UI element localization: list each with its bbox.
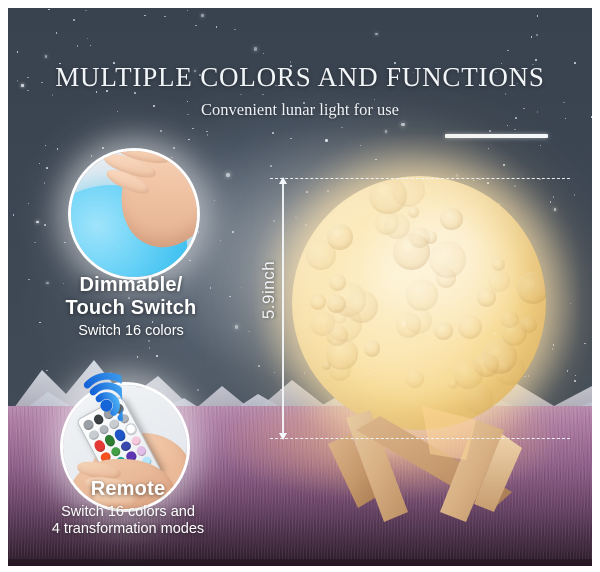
feature-subtitle-line1: Switch 16 colors and <box>8 504 248 521</box>
dimension-arrow-down-icon <box>279 433 287 440</box>
feature-subtitle-line2: 4 transformation modes <box>8 521 248 538</box>
dimension-guide-bottom <box>270 438 570 439</box>
feature-title-line2: Touch Switch <box>11 297 251 320</box>
banner-scene: MULTIPLE COLORS AND FUNCTIONS Convenient… <box>8 8 592 566</box>
feature-title-remote: Remote <box>8 478 248 501</box>
page-title: MULTIPLE COLORS AND FUNCTIONS <box>8 62 592 93</box>
feature-caption-dimmable-touch-switch: Dimmable/ Touch Switch Switch 16 colors <box>11 274 251 340</box>
dimension-arrow-up-icon <box>279 177 287 184</box>
wooden-stand <box>326 400 526 530</box>
dimension-label: 5.9inch <box>259 261 279 319</box>
product-banner: MULTIPLE COLORS AND FUNCTIONS Convenient… <box>0 0 600 572</box>
moon-lamp-sphere <box>292 176 546 430</box>
page-subtitle: Convenient lunar light for use <box>8 100 592 120</box>
moon-speckles <box>292 176 546 430</box>
feature-title-line1: Dimmable/ <box>11 274 251 297</box>
dimension-line <box>282 178 284 439</box>
feature-image-dimmable-touch-switch <box>68 148 200 280</box>
feature-subtitle: Switch 16 colors <box>11 323 251 340</box>
dimension-guide-top <box>270 178 570 179</box>
wifi-signal-icon <box>65 365 123 423</box>
feature-caption-remote: Remote Switch 16 colors and 4 transforma… <box>8 478 248 538</box>
bottom-edge-strip <box>8 559 592 566</box>
